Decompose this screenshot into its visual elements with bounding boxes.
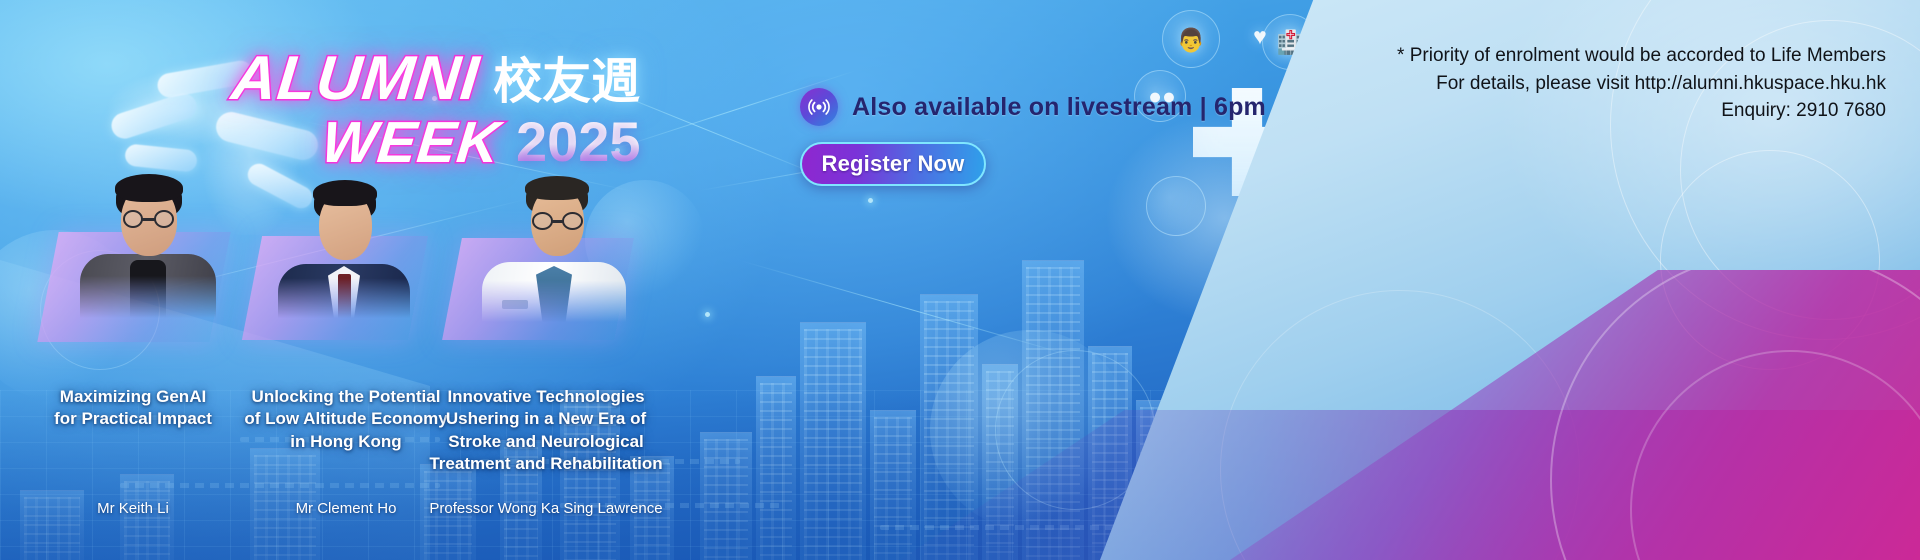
livestream-info: Also available on livestream | 6pm (800, 88, 1266, 126)
speaker-3-name: Professor Wong Ka Sing Lawrence (420, 500, 672, 518)
doctor-icon: 👨 (1177, 26, 1205, 54)
alumni-week-banner: 👨 🏥 ♥ ●● ┆ ❖ ALUMNI 校友週 WEEK 2025 (0, 0, 1920, 560)
speaker-2-photo (278, 176, 410, 318)
notice-line-priority: * Priority of enrolment would be accorde… (1397, 42, 1886, 70)
notice-line-enquiry: Enquiry: 2910 7680 (1397, 97, 1886, 125)
speaker-3-photo (482, 174, 626, 322)
speaker-1-name: Mr Keith Li (18, 500, 248, 518)
register-now-button[interactable]: Register Now (800, 142, 986, 186)
livestream-text: Also available on livestream | 6pm (852, 93, 1266, 122)
speaker-group: Maximizing GenAI for Practical Impact Mr… (0, 0, 820, 560)
notice-line-details: For details, please visit http://alumni.… (1397, 70, 1886, 98)
speaker-1-photo (78, 168, 218, 318)
enrolment-notice: * Priority of enrolment would be accorde… (1397, 42, 1886, 125)
speaker-1-title: Maximizing GenAI for Practical Impact (18, 386, 248, 431)
heart-icon: ♥ (1248, 24, 1272, 48)
register-now-label: Register Now (822, 151, 965, 177)
speaker-3-title: Innovative Technologies Ushering in a Ne… (420, 386, 672, 476)
